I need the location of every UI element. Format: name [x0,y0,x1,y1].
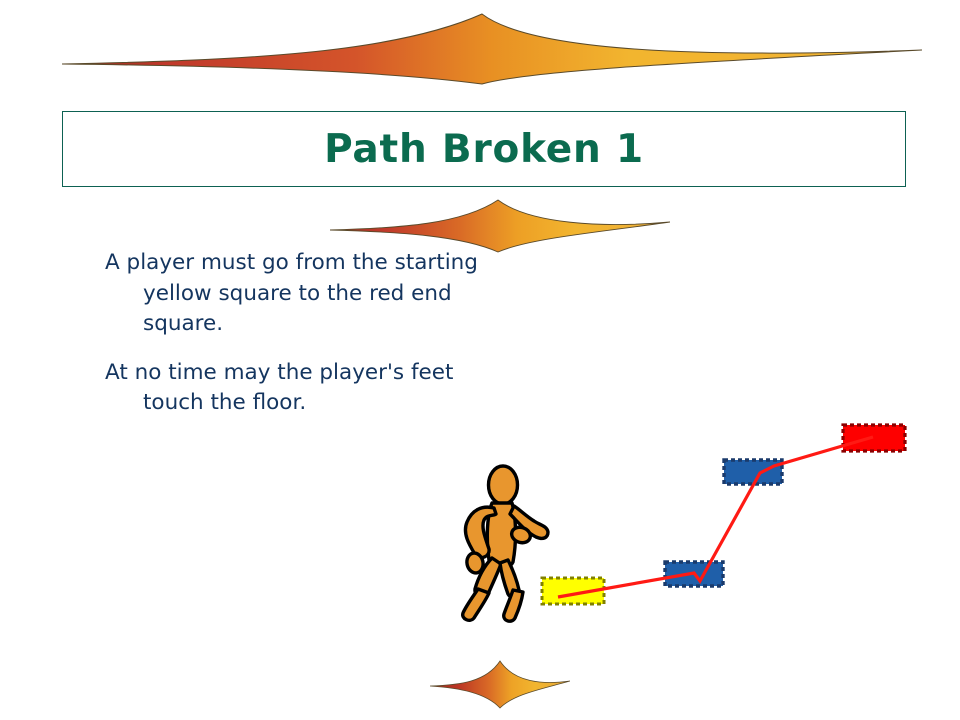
slide: Path Broken 1 A player must go from the … [0,0,960,720]
figure-head [489,466,518,504]
stepping-square-2 [724,460,782,484]
path-diagram [0,0,960,720]
end-square-rect [843,425,905,451]
stepping-square-2-rect [724,460,782,484]
figure-rear-calf [463,589,489,620]
end-square [843,425,905,451]
player-figure [463,466,548,621]
